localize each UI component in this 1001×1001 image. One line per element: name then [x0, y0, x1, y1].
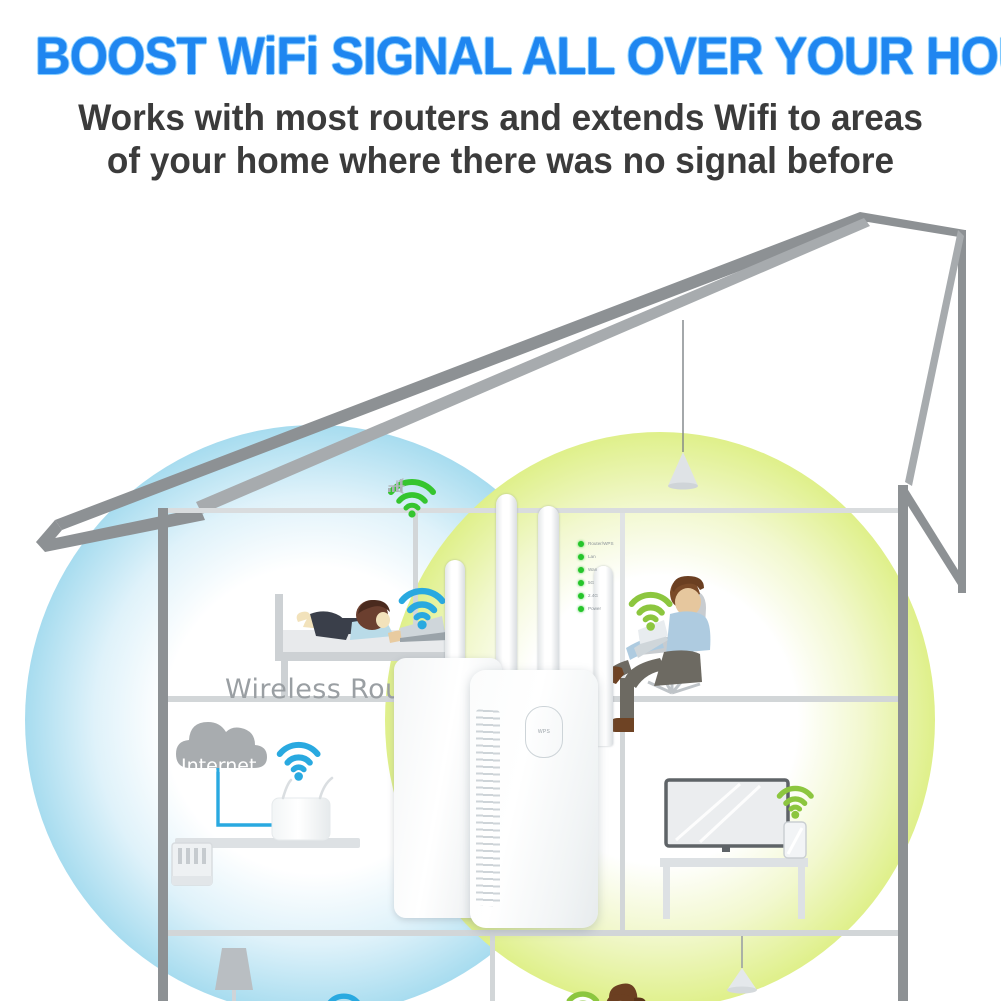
- person-with-phone: [595, 983, 646, 1001]
- wifi-icon-dining-room: [569, 994, 596, 1001]
- led-lan-icon: [578, 554, 584, 560]
- page-headline: BOOST WiFi SIGNAL ALL OVER YOUR HOUSE: [35, 28, 966, 86]
- vent-slots: [476, 709, 500, 906]
- led-label: 5G: [588, 580, 594, 586]
- pendant-lamp-dining: [727, 936, 757, 994]
- pendant-lamp-top: [668, 320, 698, 490]
- tv-table-leg-left: [663, 867, 670, 919]
- led-5g-icon: [578, 580, 584, 586]
- led-label: Lan: [588, 554, 596, 560]
- wifi-icon-router: [280, 745, 318, 781]
- tv-table-leg-right: [798, 867, 805, 919]
- tv-screen: [666, 780, 788, 846]
- subtitle-line-1: Works with most routers and extends Wifi…: [25, 97, 976, 138]
- wps-button[interactable]: WPS: [525, 706, 563, 758]
- led-row: Router/WPS: [578, 538, 614, 549]
- wifi-range-extender: Router/WPS Lan Wan 5G 2.4G: [388, 478, 620, 948]
- led-wan-icon: [578, 567, 584, 573]
- tv-room-scene: [660, 780, 811, 919]
- led-row: Wan: [578, 564, 614, 575]
- led-power-icon: [578, 606, 584, 612]
- led-label: 2.4G: [588, 593, 598, 599]
- led-label: Wan: [588, 567, 597, 573]
- led-label: Power: [588, 606, 601, 612]
- house-illustration: Internet Wireless Router Router/WPS Lan: [0, 190, 1001, 1001]
- led-row: Lan: [578, 551, 614, 562]
- network-switch: [172, 843, 212, 885]
- wireless-router-device: [272, 778, 332, 840]
- bed-headboard: [275, 594, 283, 652]
- router-scene: [172, 722, 360, 885]
- reset-pinhole-icon: [388, 478, 406, 494]
- led-row: 5G: [578, 577, 614, 588]
- internet-cloud-label: Internet: [181, 755, 255, 777]
- led-indicator-panel: Router/WPS Lan Wan 5G 2.4G: [578, 538, 614, 616]
- subtitle-line-2: of your home where there was no signal b…: [25, 140, 976, 181]
- led-router-wps-icon: [578, 541, 584, 547]
- living-room-scene: [215, 948, 405, 1001]
- led-row: 2.4G: [578, 590, 614, 601]
- led-row: Power: [578, 603, 614, 614]
- led-label: Router/WPS: [588, 541, 614, 547]
- wps-button-label: WPS: [538, 729, 550, 735]
- wifi-icon-living-room: [329, 996, 358, 1001]
- floor-lamp: [215, 948, 253, 1001]
- led-24g-icon: [578, 593, 584, 599]
- tv-stand: [722, 846, 730, 852]
- product-banner: BOOST WiFi SIGNAL ALL OVER YOUR HOUSE Wo…: [0, 0, 1001, 1001]
- tv-table-top: [660, 858, 808, 867]
